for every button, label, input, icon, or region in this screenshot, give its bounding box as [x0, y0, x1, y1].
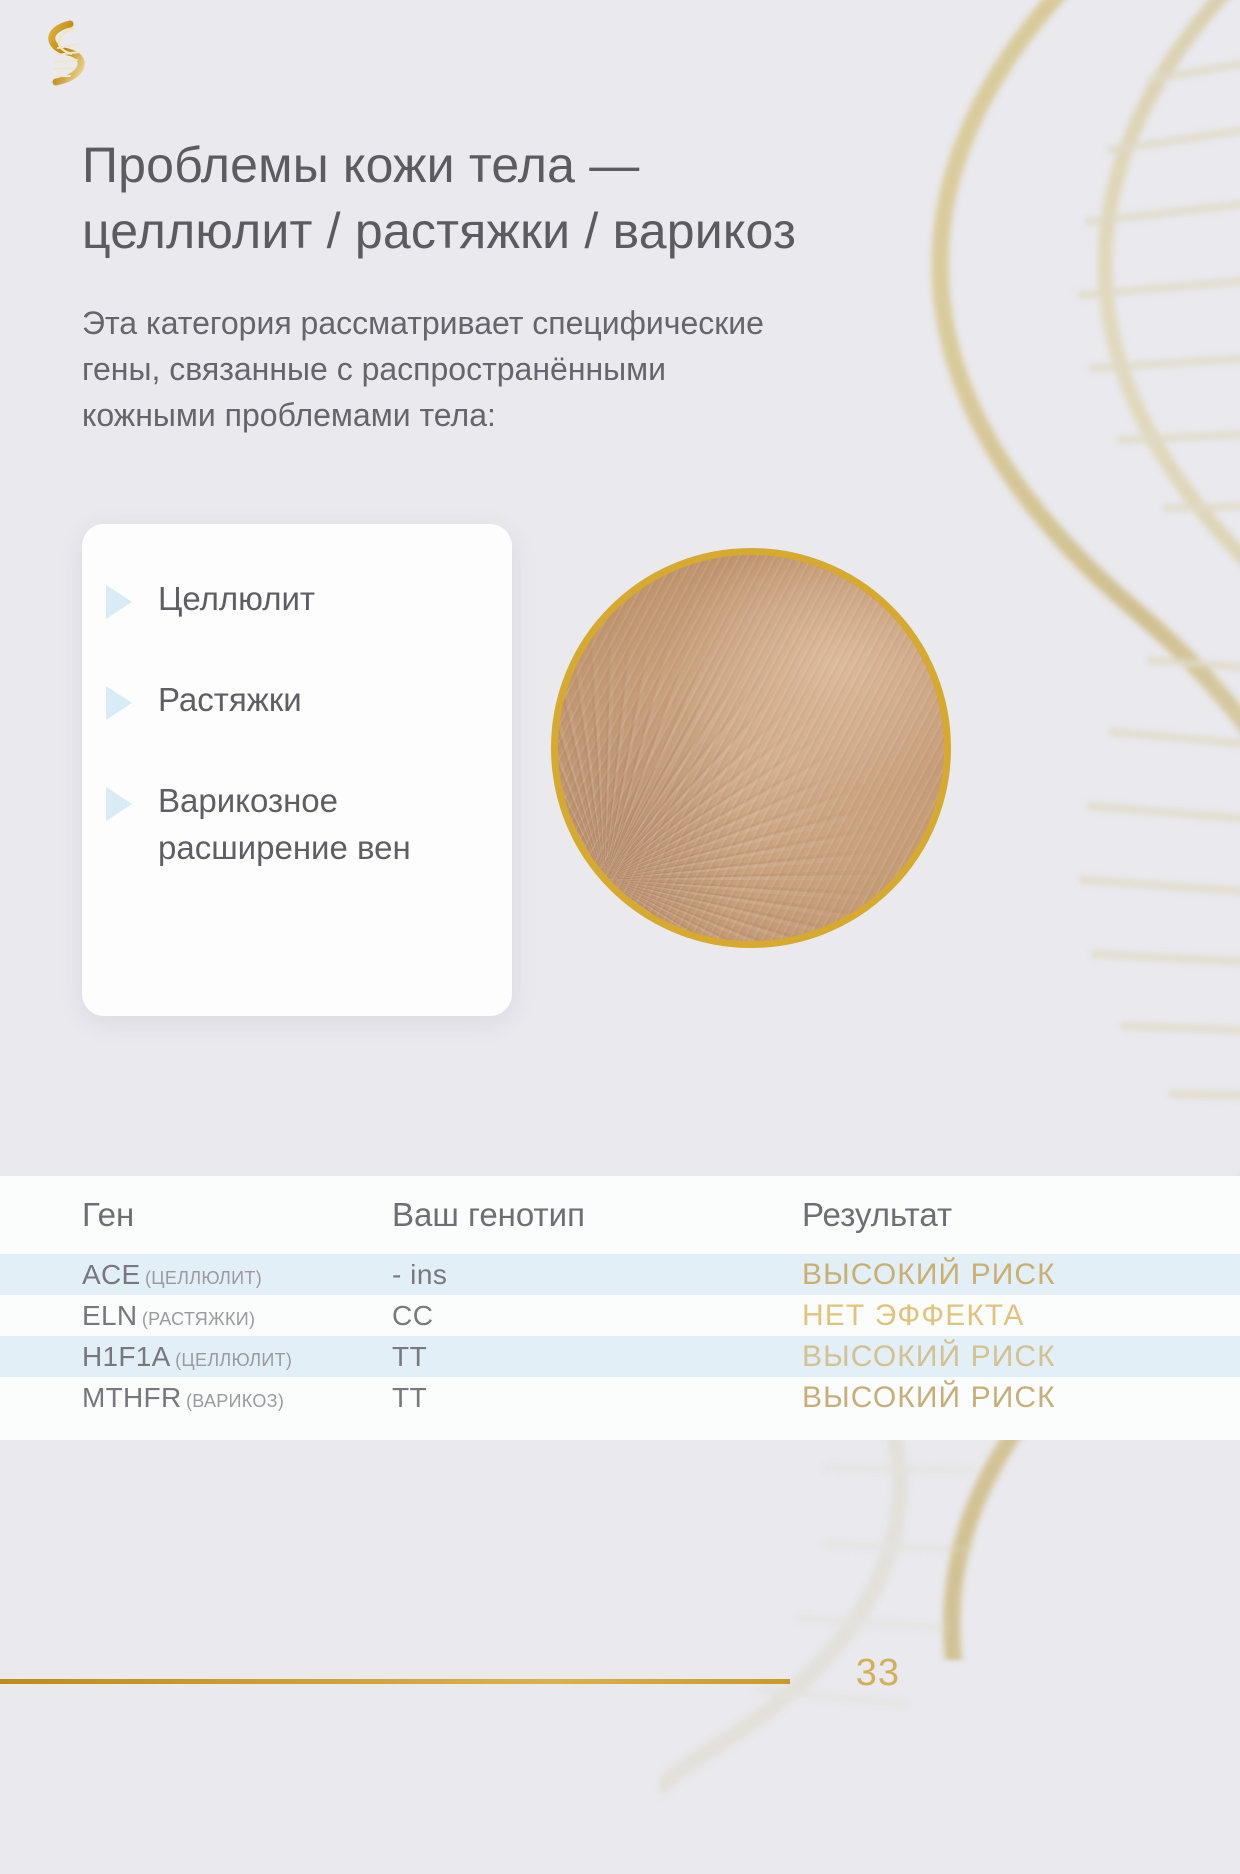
- genotype-value: CC: [392, 1300, 802, 1332]
- result-value: ВЫСОКИЙ РИСК: [802, 1258, 1240, 1292]
- genotype-value: TT: [392, 1341, 802, 1373]
- gene-name: H1F1A: [82, 1341, 171, 1372]
- photo-texture: [558, 555, 944, 941]
- gene-note: (ЦЕЛЛЮЛИТ): [145, 1268, 262, 1288]
- table-row: ELN (РАСТЯЖКИ) CC НЕТ ЭФФЕКТА: [0, 1295, 1240, 1336]
- table-row: H1F1A (ЦЕЛЛЮЛИТ) TT ВЫСОКИЙ РИСК: [0, 1336, 1240, 1377]
- dna-helix-icon: [30, 18, 94, 88]
- column-header-gene: Ген: [82, 1196, 392, 1234]
- table-row: ACE (ЦЕЛЛЮЛИТ) - ins ВЫСОКИЙ РИСК: [0, 1254, 1240, 1295]
- list-item-label: Растяжки: [158, 677, 302, 724]
- genotype-value: TT: [392, 1382, 802, 1414]
- result-value: НЕТ ЭФФЕКТА: [802, 1299, 1240, 1333]
- list-item: Варикозное расширение вен: [106, 778, 494, 872]
- column-header-genotype: Ваш генотип: [392, 1196, 802, 1234]
- intro-paragraph: Эта категория рассматривает специфически…: [82, 300, 802, 438]
- page-number: 33: [0, 1652, 900, 1695]
- gene-note: (ВАРИКОЗ): [186, 1391, 284, 1411]
- list-item-label: Целлюлит: [158, 576, 315, 623]
- column-header-result: Результат: [802, 1196, 1240, 1234]
- gene-note: (ЦЕЛЛЮЛИТ): [175, 1350, 292, 1370]
- conditions-list: Целлюлит Растяжки Варикозное расширение …: [106, 576, 494, 871]
- skin-stretch-marks-photo: [551, 548, 951, 948]
- gene-name: ACE: [82, 1259, 140, 1290]
- list-item-label: Варикозное расширение вен: [158, 778, 494, 872]
- triangle-right-icon: [106, 585, 132, 619]
- table-row: MTHFR (ВАРИКОЗ) TT ВЫСОКИЙ РИСК: [0, 1377, 1240, 1418]
- page-title-line2: целлюлит / растяжки / варикоз: [82, 203, 796, 259]
- genotype-value: - ins: [392, 1259, 802, 1291]
- table-header-row: Ген Ваш генотип Результат: [0, 1176, 1240, 1254]
- result-value: ВЫСОКИЙ РИСК: [802, 1340, 1240, 1374]
- genotype-results-table: Ген Ваш генотип Результат ACE (ЦЕЛЛЮЛИТ)…: [0, 1176, 1240, 1440]
- list-item: Целлюлит: [106, 576, 494, 623]
- triangle-right-icon: [106, 787, 132, 821]
- triangle-right-icon: [106, 686, 132, 720]
- page-title-line1: Проблемы кожи тела —: [82, 137, 639, 193]
- page-title: Проблемы кожи тела — целлюлит / растяжки…: [82, 132, 942, 264]
- list-item: Растяжки: [106, 677, 494, 724]
- result-value: ВЫСОКИЙ РИСК: [802, 1381, 1240, 1415]
- conditions-card: Целлюлит Растяжки Варикозное расширение …: [82, 524, 512, 1016]
- gene-name: MTHFR: [82, 1382, 181, 1413]
- gene-note: (РАСТЯЖКИ): [142, 1309, 255, 1329]
- gene-name: ELN: [82, 1300, 137, 1331]
